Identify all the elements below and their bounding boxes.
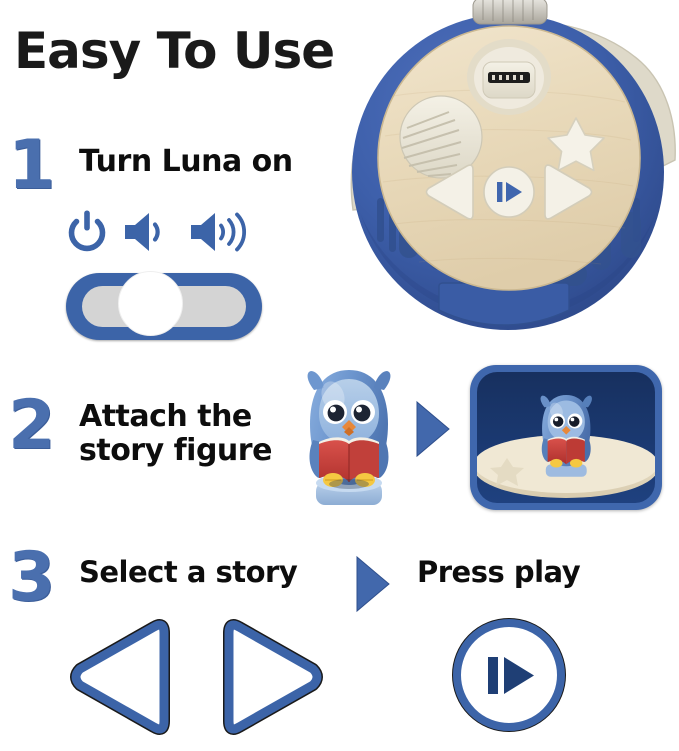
play-button[interactable] xyxy=(448,613,570,737)
power-icon xyxy=(68,210,106,254)
toggle-knob[interactable] xyxy=(118,271,183,336)
volume-low-icon xyxy=(122,210,172,254)
step-number-2: 2 xyxy=(8,392,55,460)
next-triangle-button[interactable] xyxy=(205,613,331,741)
step-number-1: 1 xyxy=(8,132,55,200)
power-volume-icon-row xyxy=(68,210,254,254)
step-label-2-line2: story figure xyxy=(79,434,309,468)
owl-story-figure xyxy=(297,362,401,510)
step-label-2: Attach the story figure xyxy=(79,400,309,467)
step-label-3: Select a story xyxy=(79,556,297,588)
play-pause-button xyxy=(484,167,534,217)
power-toggle-switch[interactable] xyxy=(66,273,262,340)
step-number-3: 3 xyxy=(8,544,55,612)
step-label-1: Turn Luna on xyxy=(79,145,293,179)
arrow-right-icon-step2 xyxy=(415,400,453,458)
luna-story-speaker xyxy=(333,0,679,340)
step-label-2-line1: Attach the xyxy=(79,400,309,434)
step-label-3-secondary: Press play xyxy=(417,556,580,588)
previous-triangle-button[interactable] xyxy=(62,613,188,741)
page-title: Easy To Use xyxy=(14,26,334,76)
volume-high-icon xyxy=(188,210,254,254)
arrow-right-icon-step3 xyxy=(355,555,393,613)
figure-connector-socket xyxy=(467,39,551,115)
instruction-graphic: Easy To Use 1 Turn Luna on xyxy=(0,0,679,751)
owl-attached-on-device-card xyxy=(470,365,662,510)
volume-dial-top xyxy=(473,0,547,24)
